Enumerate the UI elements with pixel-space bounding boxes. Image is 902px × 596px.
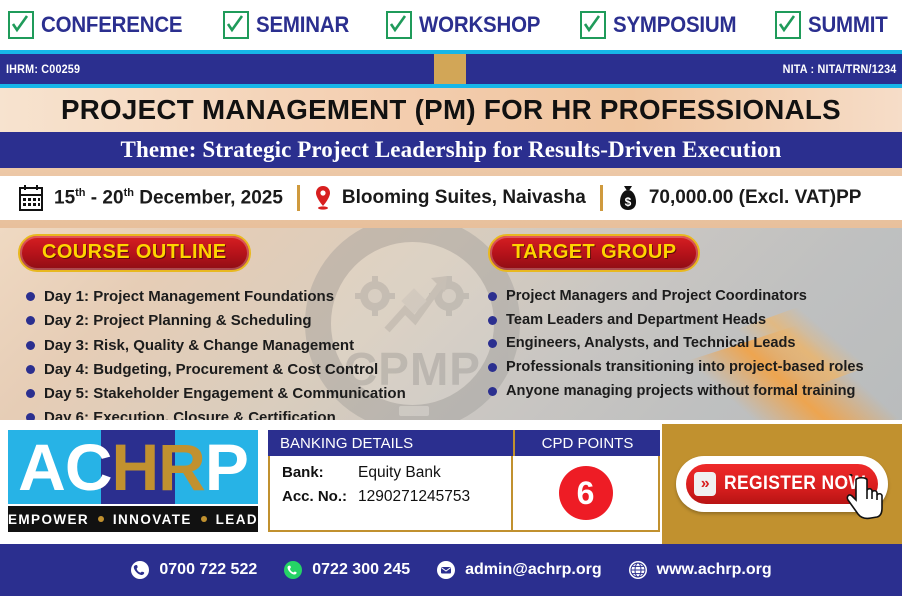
- email-icon: [436, 560, 456, 580]
- list-item: Engineers, Analysts, and Technical Leads: [488, 333, 902, 354]
- bank-value: Equity Bank: [358, 464, 441, 482]
- contact-phone-text: 0700 722 522: [159, 561, 257, 579]
- bullet-icon: [26, 365, 35, 374]
- gold-tab-accent: [434, 54, 466, 84]
- contact-whatsapp-text: 0722 300 245: [312, 561, 410, 579]
- calendar-icon: [18, 184, 44, 212]
- theme-text: Theme: Strategic Project Leadership for …: [121, 137, 782, 163]
- theme-bar: Theme: Strategic Project Leadership for …: [0, 132, 902, 168]
- nita-code: NITA : NITA/TRN/1234: [782, 62, 896, 76]
- list-item-label: Day 3: Risk, Quality & Change Management: [44, 335, 354, 356]
- banking-cpd-panel: BANKING DETAILS CPD POINTS Bank: Equity …: [268, 430, 660, 532]
- logo-letter: P: [205, 434, 248, 500]
- event-type-symposium: SYMPOSIUM: [580, 11, 746, 39]
- cpd-points-body: 6: [513, 456, 658, 530]
- table-row: Bank: Equity Bank: [282, 464, 511, 482]
- list-item: Day 1: Project Management Foundations: [26, 286, 470, 307]
- hand-cursor-icon: [846, 474, 890, 522]
- bullet-icon: [488, 292, 497, 301]
- event-type-label: SEMINAR: [256, 12, 349, 38]
- event-date-text: 15th - 20th December, 2025: [54, 187, 283, 209]
- tagline-dot-icon: [201, 516, 207, 522]
- checkbox-checked-icon: [8, 11, 34, 39]
- tagline-dot-icon: [98, 516, 104, 522]
- event-venue-text: Blooming Suites, Naivasha: [342, 187, 586, 209]
- bullet-icon: [488, 316, 497, 325]
- tagline-word: LEAD: [216, 512, 258, 527]
- achrp-logo: A C H R P EMPOWER INNOVATE LEAD: [8, 430, 258, 532]
- logo-letter: A: [18, 434, 65, 500]
- target-group-column: TARGET GROUP Project Managers and Projec…: [470, 228, 902, 420]
- course-outline-badge: COURSE OUTLINE: [18, 234, 251, 272]
- checkbox-checked-icon: [223, 11, 249, 39]
- whatsapp-icon: [283, 560, 303, 580]
- list-item: Day 2: Project Planning & Scheduling: [26, 310, 470, 331]
- list-item-label: Team Leaders and Department Heads: [506, 310, 766, 331]
- contact-footer: 0700 722 522 0722 300 245 admin@achrp.or…: [0, 544, 902, 596]
- checkbox-checked-icon: [386, 11, 412, 39]
- list-item-label: Day 4: Budgeting, Procurement & Cost Con…: [44, 359, 378, 380]
- account-label: Acc. No.:: [282, 488, 358, 505]
- checkbox-checked-icon: [775, 11, 801, 39]
- list-item: Professionals transitioning into project…: [488, 357, 902, 378]
- event-type-label: SYMPOSIUM: [613, 12, 736, 38]
- event-venue: Blooming Suites, Naivasha: [300, 176, 600, 220]
- title-block: PROJECT MANAGEMENT (PM) FOR HR PROFESSIO…: [0, 88, 902, 132]
- account-value: 1290271245753: [358, 488, 470, 506]
- event-type-workshop: WORKSHOP: [386, 11, 549, 39]
- list-item: Day 5: Stakeholder Engagement & Communic…: [26, 383, 470, 404]
- event-type-seminar: SEMINAR: [223, 11, 356, 39]
- phone-icon: [130, 560, 150, 580]
- tagline-word: EMPOWER: [8, 512, 89, 527]
- contact-phone[interactable]: 0700 722 522: [130, 560, 257, 580]
- banking-details-body: Bank: Equity Bank Acc. No.: 129027124575…: [270, 456, 513, 530]
- page-title: PROJECT MANAGEMENT (PM) FOR HR PROFESSIO…: [61, 94, 841, 126]
- contact-whatsapp[interactable]: 0722 300 245: [283, 560, 410, 580]
- contact-email[interactable]: admin@achrp.org: [436, 560, 602, 580]
- ihrm-code: IHRM: C00259: [6, 62, 80, 76]
- register-panel: » REGISTER NOW: [662, 424, 902, 544]
- event-type-conference: CONFERENCE: [8, 11, 193, 39]
- bullet-icon: [26, 389, 35, 398]
- event-type-label: SUMMIT: [808, 12, 888, 38]
- list-item: Team Leaders and Department Heads: [488, 310, 902, 331]
- checkbox-checked-icon: [580, 11, 606, 39]
- svg-text:$: $: [624, 195, 631, 209]
- event-info-row: 15th - 20th December, 2025 Blooming Suit…: [0, 176, 902, 220]
- cpd-points-header: CPD POINTS: [515, 430, 660, 456]
- event-date: 15th - 20th December, 2025: [0, 176, 297, 220]
- globe-icon: [628, 560, 648, 580]
- event-poster: CONFERENCE SEMINAR WORKSHOP SYMPOSIUM SU…: [0, 0, 902, 596]
- event-type-strip: CONFERENCE SEMINAR WORKSHOP SYMPOSIUM SU…: [0, 0, 902, 50]
- table-row: Acc. No.: 1290271245753: [282, 488, 511, 506]
- list-item: Day 4: Budgeting, Procurement & Cost Con…: [26, 359, 470, 380]
- cpd-points-badge: 6: [559, 466, 613, 520]
- list-item-label: Day 1: Project Management Foundations: [44, 286, 334, 307]
- money-bag-icon: $: [617, 184, 639, 212]
- target-group-list: Project Managers and Project Coordinator…: [488, 286, 902, 402]
- target-group-badge: TARGET GROUP: [488, 234, 700, 272]
- banking-details-header: BANKING DETAILS: [268, 430, 513, 456]
- course-outline-column: COURSE OUTLINE Day 1: Project Management…: [0, 228, 470, 420]
- logo-tagline: EMPOWER INNOVATE LEAD: [8, 506, 258, 532]
- list-item-label: Engineers, Analysts, and Technical Leads: [506, 333, 796, 354]
- register-now-label: REGISTER NOW: [724, 473, 865, 495]
- contact-website[interactable]: www.achrp.org: [628, 560, 772, 580]
- location-pin-icon: [314, 185, 332, 211]
- chevron-right-icon: »: [694, 472, 716, 496]
- logo-letter: R: [158, 434, 205, 500]
- course-outline-badge-label: COURSE OUTLINE: [42, 241, 227, 263]
- bullet-icon: [488, 387, 497, 396]
- list-item-label: Professionals transitioning into project…: [506, 357, 864, 378]
- logo-letter: C: [65, 434, 112, 500]
- list-item-label: Anyone managing projects without formal …: [506, 381, 855, 402]
- event-fee-text: 70,000.00 (Excl. VAT)PP: [649, 187, 862, 209]
- bullet-icon: [26, 292, 35, 301]
- target-group-badge-label: TARGET GROUP: [512, 241, 676, 263]
- tagline-word: INNOVATE: [113, 512, 192, 527]
- list-item-label: Day 5: Stakeholder Engagement & Communic…: [44, 383, 406, 404]
- list-item-label: Day 2: Project Planning & Scheduling: [44, 310, 312, 331]
- logo-letter: H: [111, 434, 158, 500]
- bullet-icon: [26, 316, 35, 325]
- contact-website-text: www.achrp.org: [657, 561, 772, 579]
- event-type-label: CONFERENCE: [41, 12, 182, 38]
- event-type-label: WORKSHOP: [419, 12, 540, 38]
- bullet-icon: [488, 339, 497, 348]
- event-fee: $ 70,000.00 (Excl. VAT)PP: [603, 176, 876, 220]
- event-type-summit: SUMMIT: [775, 11, 894, 39]
- bullet-icon: [488, 363, 497, 372]
- bank-label: Bank:: [282, 464, 358, 481]
- list-item: Anyone managing projects without formal …: [488, 381, 902, 402]
- list-item: Day 6: Execution, Closure & Certificatio…: [26, 407, 470, 420]
- course-outline-list: Day 1: Project Management Foundations Da…: [26, 286, 470, 420]
- list-item: Day 3: Risk, Quality & Change Management: [26, 335, 470, 356]
- poster-body: CPMP COURSE OUTLINE Day 1: Project Manag…: [0, 228, 902, 420]
- register-now-button[interactable]: » REGISTER NOW: [676, 456, 888, 512]
- list-item-label: Project Managers and Project Coordinator…: [506, 286, 807, 307]
- list-item: Project Managers and Project Coordinator…: [488, 286, 902, 307]
- bullet-icon: [26, 341, 35, 350]
- contact-email-text: admin@achrp.org: [465, 561, 602, 579]
- list-item-label: Day 6: Execution, Closure & Certificatio…: [44, 407, 336, 420]
